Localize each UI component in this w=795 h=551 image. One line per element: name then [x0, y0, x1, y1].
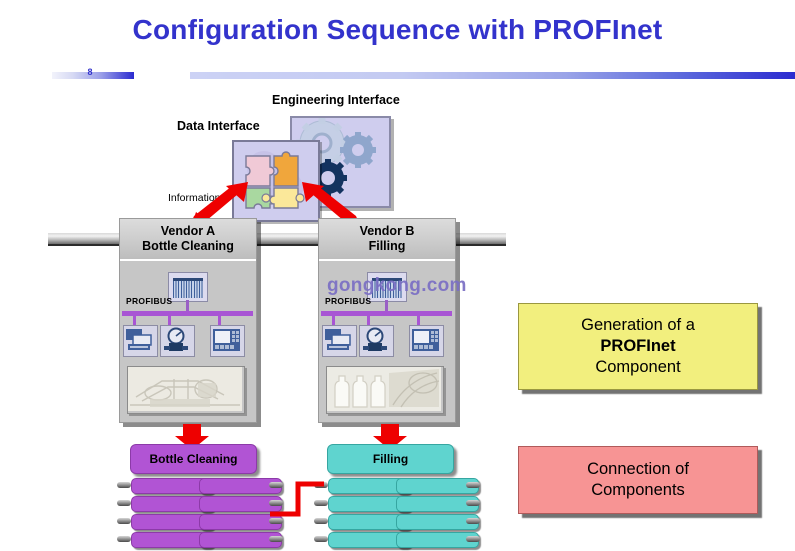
vendor-a-function: Bottle Cleaning [142, 239, 234, 254]
vendor-a-header: Vendor A Bottle Cleaning [120, 219, 256, 261]
controller-rack-inner [173, 278, 203, 298]
controller-drop-line [385, 300, 388, 311]
flow-meter-icon [359, 325, 394, 357]
profibus-drop-1 [332, 316, 335, 325]
module-pin-right [466, 536, 480, 542]
vendor-a-name: Vendor A [161, 224, 215, 239]
callout-line-2: PROFInet [600, 336, 675, 357]
module-pin-left [314, 536, 328, 542]
callout-line-1: Generation of a [581, 315, 695, 336]
controller-drop-line [186, 300, 189, 311]
callout-generation-of-profinet-component[interactable]: Generation of a PROFInet Component [518, 303, 758, 390]
module-pin-left [117, 500, 131, 506]
vendor-b-header: Vendor B Filling [319, 219, 455, 261]
page-title: Configuration Sequence with PROFInet [0, 14, 795, 46]
module-title-label: Bottle Cleaning [149, 452, 237, 466]
vendor-b-name: Vendor B [360, 224, 415, 239]
callout-line-2: Components [591, 480, 685, 501]
module-row[interactable] [314, 532, 480, 546]
profibus-line-a [122, 311, 253, 316]
machinery-photo [127, 366, 245, 414]
profibus-line-b [321, 311, 452, 316]
watermark: gongkong.com [327, 275, 467, 297]
red-connection-line [268, 476, 326, 525]
vendor-panel-a[interactable]: Vendor A Bottle Cleaning PROFIBUS [119, 218, 257, 423]
controller-rack-icon [168, 272, 208, 302]
page-number: 8 [78, 67, 102, 77]
callout-line-3: Component [595, 357, 680, 378]
module-row[interactable] [117, 514, 283, 528]
vendor-a-body: PROFIBUS [120, 261, 256, 422]
module-pin-left [117, 536, 131, 542]
module-row[interactable] [117, 496, 283, 510]
module-row[interactable] [117, 532, 283, 546]
bottles-photo [326, 366, 444, 414]
module-pin-left [117, 518, 131, 524]
operator-panel-icon [210, 325, 245, 357]
module-title-bottle-cleaning[interactable]: Bottle Cleaning [130, 444, 257, 474]
pc-station-icon [123, 325, 158, 357]
operator-panel-icon [409, 325, 444, 357]
module-row[interactable] [117, 478, 283, 492]
label-engineering-interface: Engineering Interface [272, 93, 400, 107]
module-pin-right [269, 536, 283, 542]
header-rule-right [190, 72, 795, 79]
pc-station-icon [322, 325, 357, 357]
callout-connection-of-components[interactable]: Connection of Components [518, 446, 758, 514]
module-title-label: Filling [373, 452, 408, 466]
module-pin-right [466, 500, 480, 506]
module-row[interactable] [314, 478, 480, 492]
profibus-drop-2 [168, 316, 171, 325]
label-data-interface: Data Interface [177, 119, 260, 133]
module-row[interactable] [314, 514, 480, 528]
callout-line-1: Connection of [587, 459, 689, 480]
module-pin-right [466, 518, 480, 524]
profibus-label-a: PROFIBUS [126, 296, 172, 306]
module-pin-right [466, 482, 480, 488]
profibus-drop-3 [417, 316, 420, 325]
flow-meter-icon [160, 325, 195, 357]
module-row[interactable] [314, 496, 480, 510]
profibus-drop-1 [133, 316, 136, 325]
profibus-drop-2 [367, 316, 370, 325]
vendor-panel-b[interactable]: Vendor B Filling PROFIBUS [318, 218, 456, 423]
profibus-drop-3 [218, 316, 221, 325]
vendor-b-function: Filling [369, 239, 406, 254]
profibus-label-b: PROFIBUS [325, 296, 371, 306]
module-title-filling[interactable]: Filling [327, 444, 454, 474]
module-pin-left [117, 482, 131, 488]
